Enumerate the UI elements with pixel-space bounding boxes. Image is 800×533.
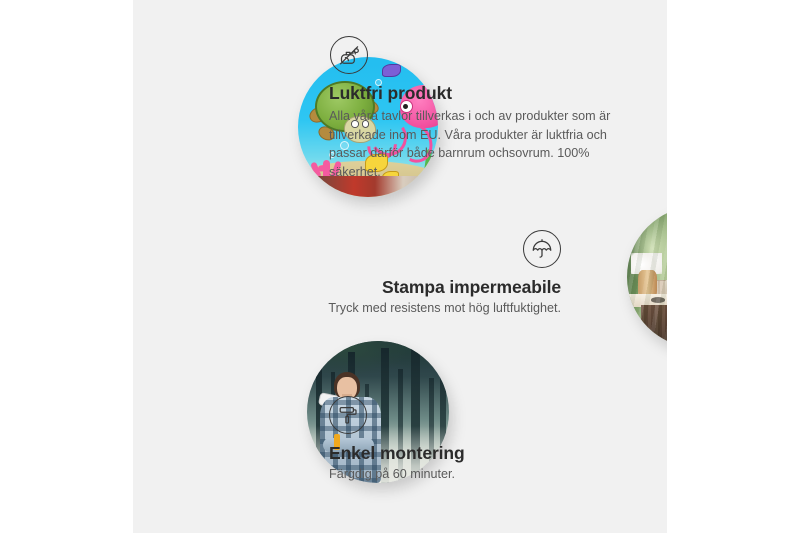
countertop [627, 294, 667, 307]
no-fragrance-icon [330, 36, 368, 74]
paint-roller-icon [329, 396, 367, 434]
feature-title: Luktfri produkt [329, 83, 629, 103]
feature-block-2: Stampa impermeabile Tryck med resistens … [221, 230, 561, 318]
vase [638, 270, 656, 301]
feature-body: Alla våra tavlor tillverkas i och av pro… [329, 107, 629, 182]
soap-dish [651, 297, 665, 303]
feature-body: Färgdig på 60 minuter. [329, 465, 629, 484]
tropical-wallpaper [627, 206, 667, 348]
backsplash [638, 280, 667, 297]
umbrella-icon [523, 230, 561, 268]
bathroom-vanity-photo [627, 206, 667, 348]
soap-bottle [665, 280, 667, 297]
feature-title: Enkel montering [329, 443, 629, 463]
content-panel: Luktfri produkt Alla våra tavlor tillver… [133, 0, 667, 533]
product-feature-infographic: Luktfri produkt Alla våra tavlor tillver… [0, 0, 800, 533]
feature-body: Tryck med resistens mot hög luftfuktighe… [221, 299, 561, 318]
feature-block-3: Enkel montering Färgdig på 60 minuter. [329, 396, 629, 484]
flowers [631, 253, 662, 274]
vanity-cabinet [641, 305, 667, 348]
feature-block-1: Luktfri produkt Alla våra tavlor tillver… [329, 36, 629, 182]
feature-title: Stampa impermeabile [221, 277, 561, 297]
